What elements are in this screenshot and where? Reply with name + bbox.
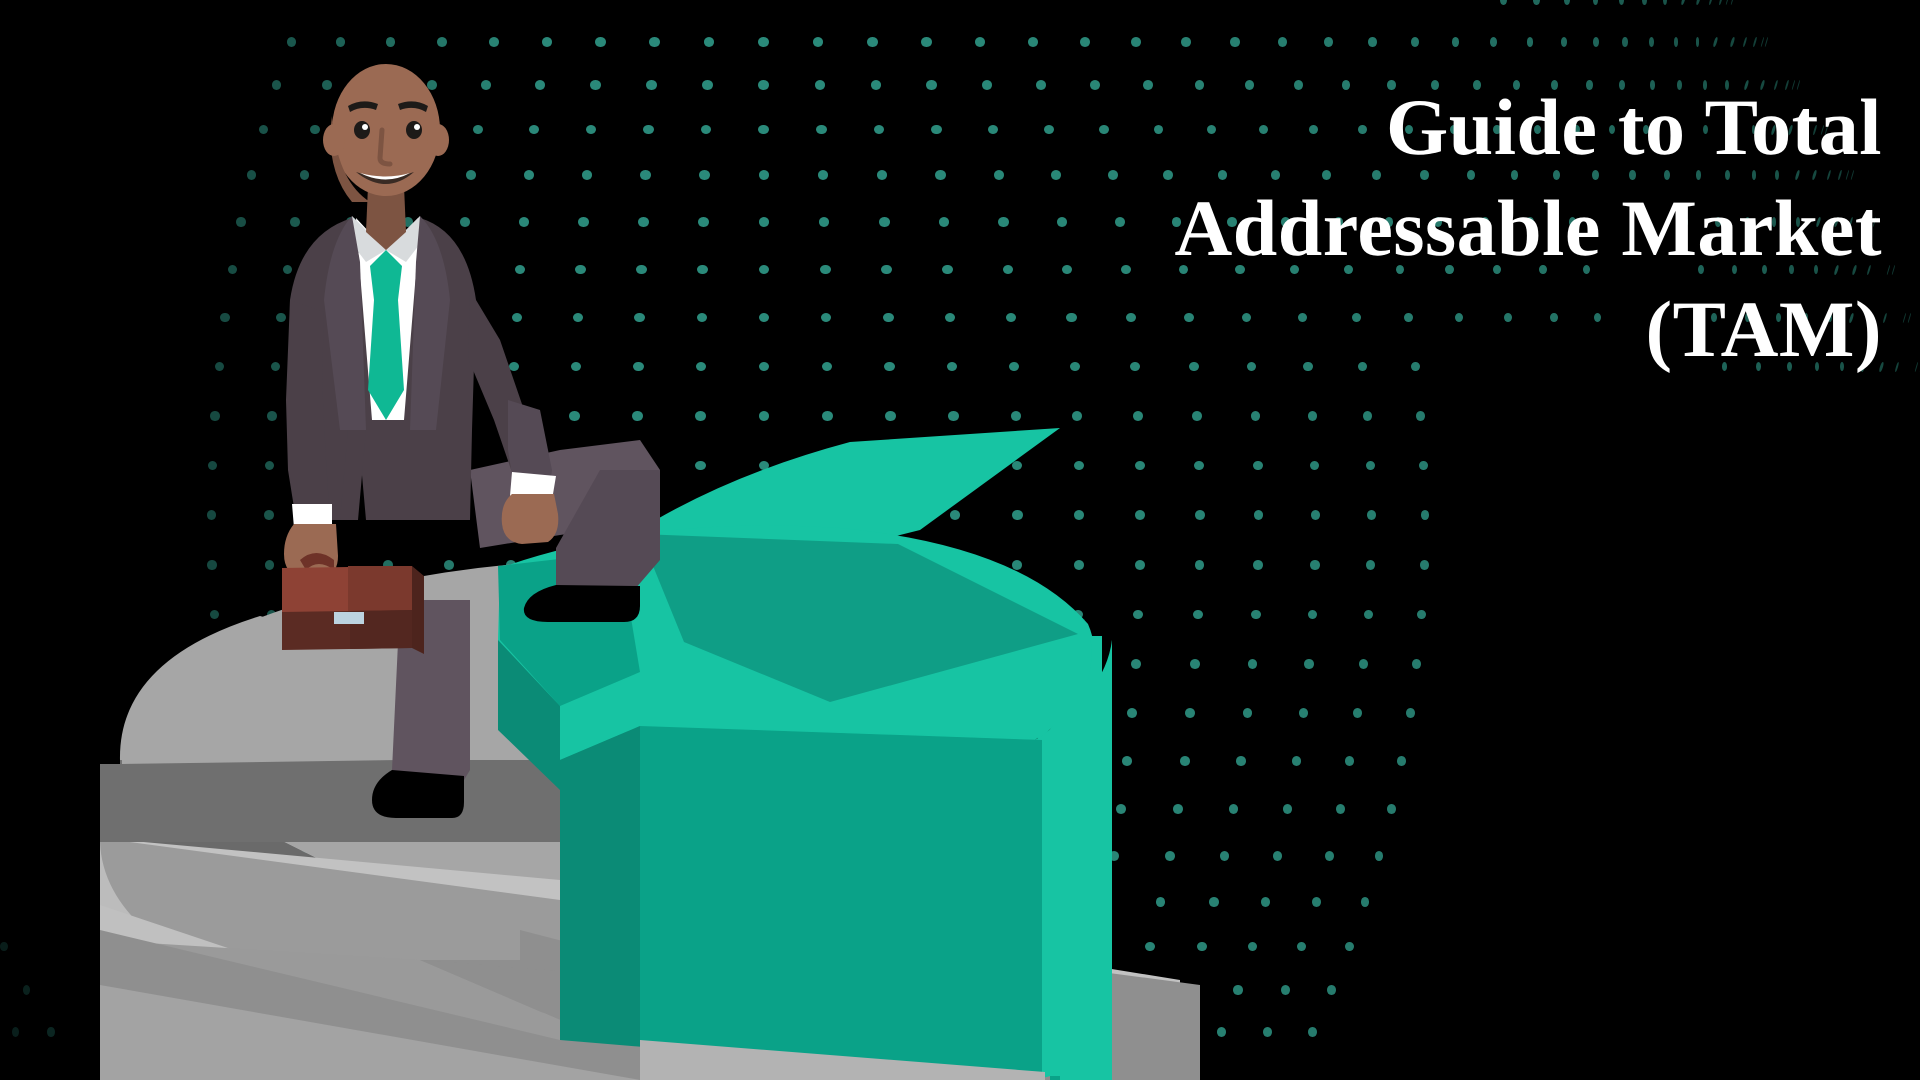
teal-front-block — [640, 726, 1042, 1080]
eye-highlight-left — [362, 124, 368, 130]
hand-right — [502, 494, 559, 544]
necktie — [368, 250, 404, 420]
eye-left — [354, 121, 370, 139]
head — [332, 64, 440, 196]
poster-canvas: Guide to Total Addressable Market (TAM) — [0, 0, 1920, 1080]
poster-title: Guide to Total Addressable Market (TAM) — [982, 78, 1882, 380]
title-line-1: Guide to Total — [982, 78, 1882, 179]
shoe-front — [524, 585, 640, 622]
eye-highlight-right — [414, 124, 420, 130]
ear-right — [427, 124, 449, 156]
briefcase-clasp — [334, 612, 364, 624]
briefcase — [282, 553, 424, 654]
shoe-back — [372, 770, 464, 818]
title-line-2: Addressable Market — [982, 179, 1882, 280]
briefcase-edge — [412, 566, 424, 654]
teal-front-block-left — [560, 726, 640, 1080]
ear-left — [323, 124, 345, 156]
title-line-3: (TAM) — [982, 280, 1882, 381]
eye-right — [406, 121, 422, 139]
